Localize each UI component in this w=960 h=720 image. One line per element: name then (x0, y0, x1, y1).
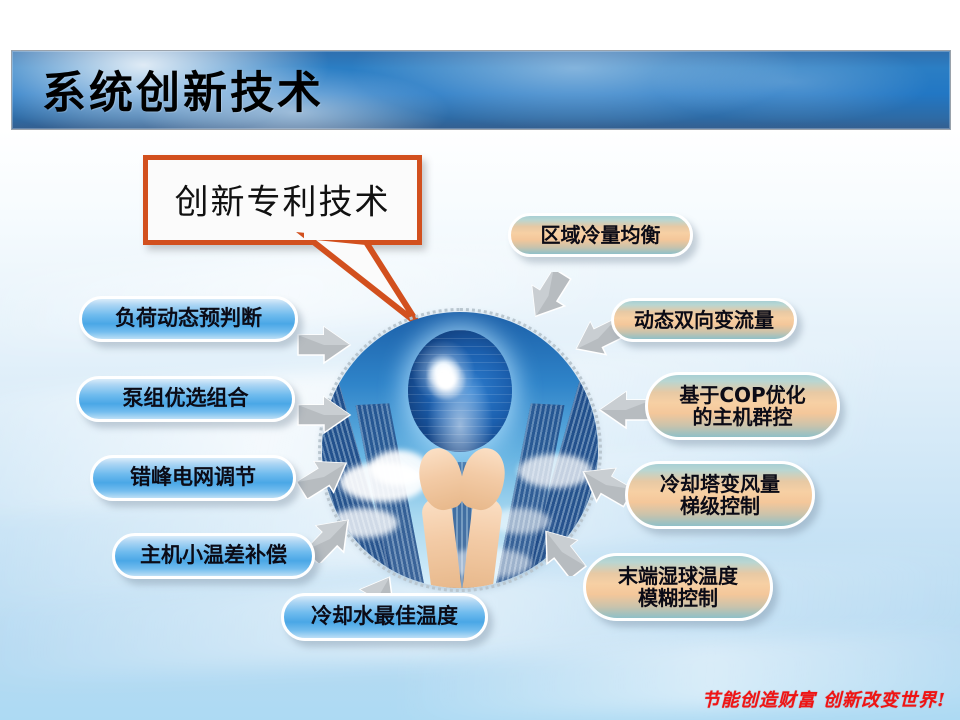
feature-pill-condenser-water-temp[interactable]: 冷却水最佳温度 (281, 593, 488, 641)
feature-pill-load-prediction[interactable]: 负荷动态预判断 (79, 296, 298, 342)
feature-pill-cop-chiller-control[interactable]: 基于COP优化 的主机群控 (645, 372, 840, 440)
arrow-up-right-icon (296, 455, 352, 499)
feature-pill-pump-group[interactable]: 泵组优选组合 (76, 376, 295, 422)
page-title: 系统创新技术 (42, 57, 324, 121)
feature-pill-zone-cooling-balance[interactable]: 区域冷量均衡 (508, 213, 693, 257)
feature-pill-chiller-delta-t[interactable]: 主机小温差补偿 (112, 533, 315, 579)
feature-pill-grid-peak-shift[interactable]: 错峰电网调节 (90, 455, 296, 501)
globe-flare (426, 360, 466, 400)
arrow-up-left-icon (534, 528, 590, 576)
globe-icon (408, 330, 512, 452)
arrow-right-icon (296, 395, 352, 435)
feature-pill-cooling-tower-fan[interactable]: 冷却塔变风量 梯级控制 (625, 461, 815, 529)
footer-slogan: 节能创造财富 创新改变世界! (0, 686, 946, 712)
feature-pill-wet-bulb-fuzzy-control[interactable]: 末端湿球温度 模糊控制 (583, 553, 773, 621)
title-banner: 系统创新技术 (11, 50, 951, 130)
callout-box: 创新专利技术 (143, 155, 422, 245)
arrow-right-icon (296, 325, 352, 365)
arrow-down-left-icon (522, 272, 576, 318)
feature-pill-dynamic-variable-flow[interactable]: 动态双向变流量 (611, 298, 797, 342)
callout-label: 创新专利技术 (148, 175, 417, 224)
slide-canvas: 系统创新技术 创新专利技术 (0, 0, 960, 720)
